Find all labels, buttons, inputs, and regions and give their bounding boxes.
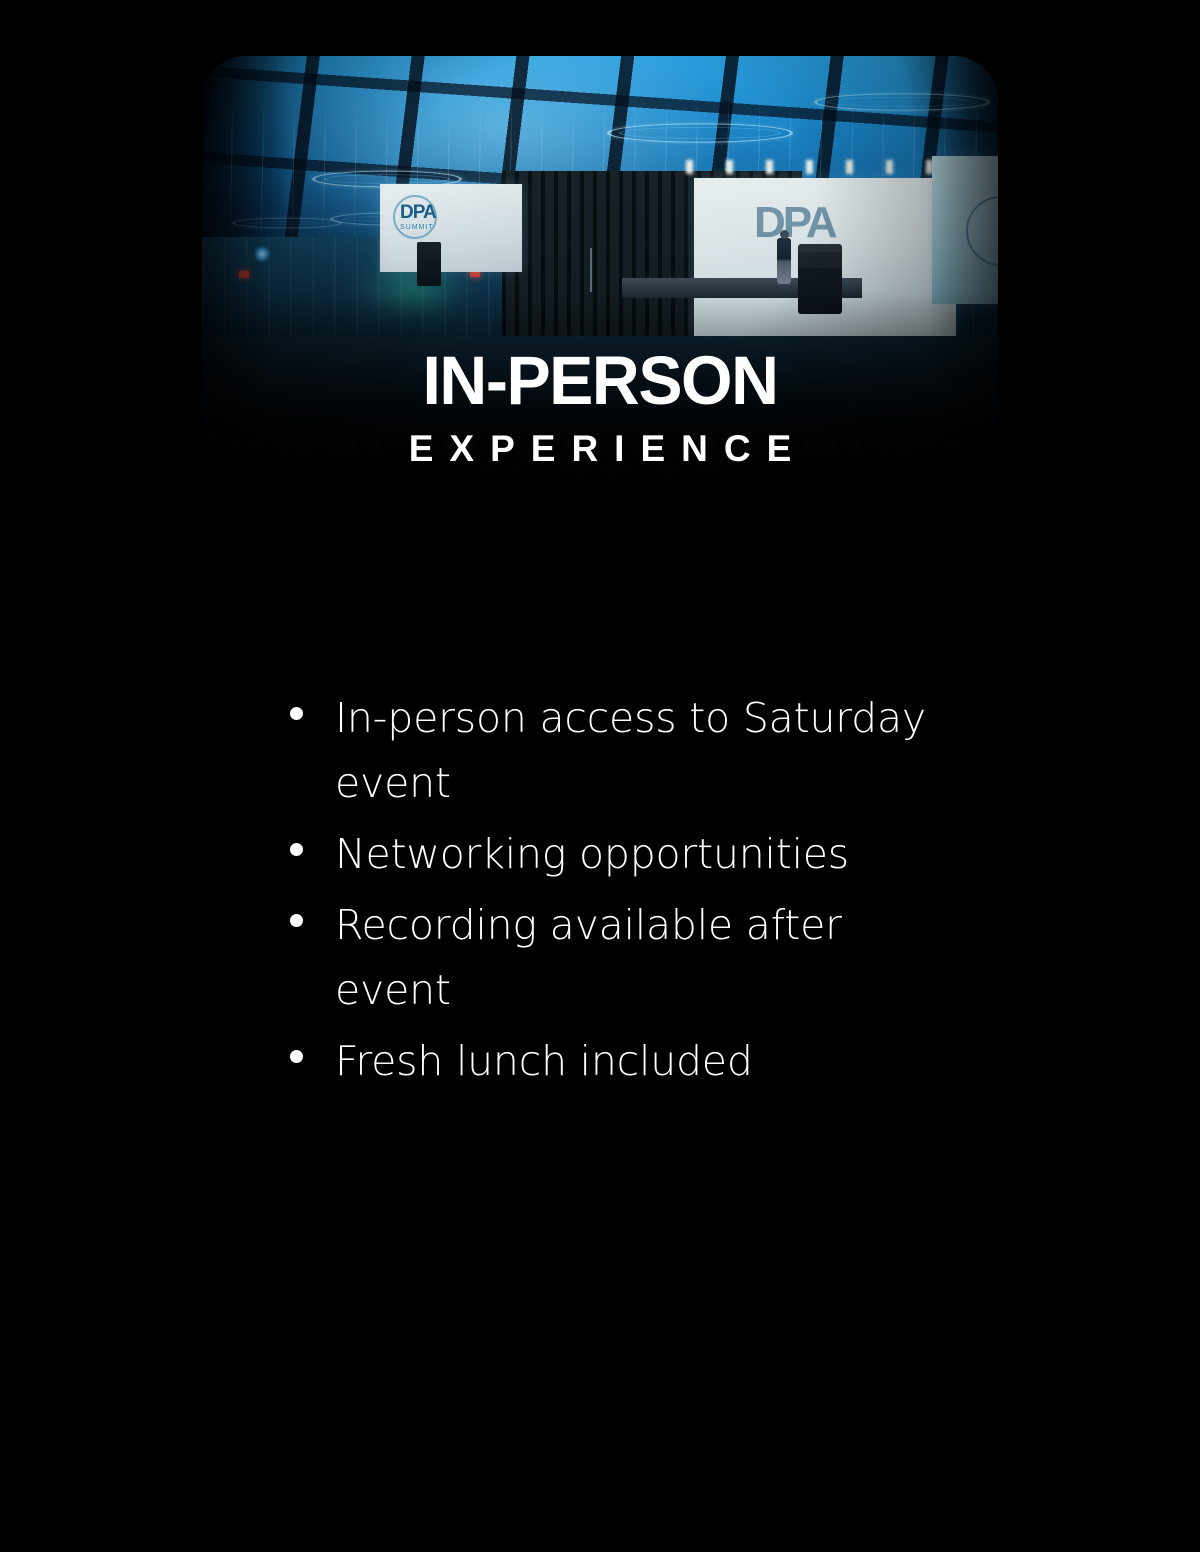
list-item-label: In-person access to Saturday event [335,686,942,816]
bullet-dot-icon [290,1050,303,1063]
bullet-dot-icon [290,914,303,927]
bullet-dot-icon [290,843,303,856]
list-item: Fresh lunch included [282,1029,942,1094]
feature-list: In-person access to Saturday event Netwo… [282,686,942,1100]
list-item: Networking opportunities [282,822,942,887]
hero-title-block: IN-PERSON EXPERIENCE [202,348,998,470]
hero-image-card: DPA SUMMIT DPA IN-PERSON EXPERIEN [202,56,998,508]
list-item-label: Fresh lunch included [335,1029,753,1094]
ticket-tier-card: DPA SUMMIT DPA IN-PERSON EXPERIEN [0,0,1200,1552]
list-item-label: Recording available after event [335,893,942,1023]
list-item-label: Networking opportunities [335,822,849,887]
bullet-dot-icon [290,707,303,720]
hero-title: IN-PERSON [218,348,982,414]
hero-subtitle: EXPERIENCE [202,428,998,470]
list-item: In-person access to Saturday event [282,686,942,816]
list-item: Recording available after event [282,893,942,1023]
